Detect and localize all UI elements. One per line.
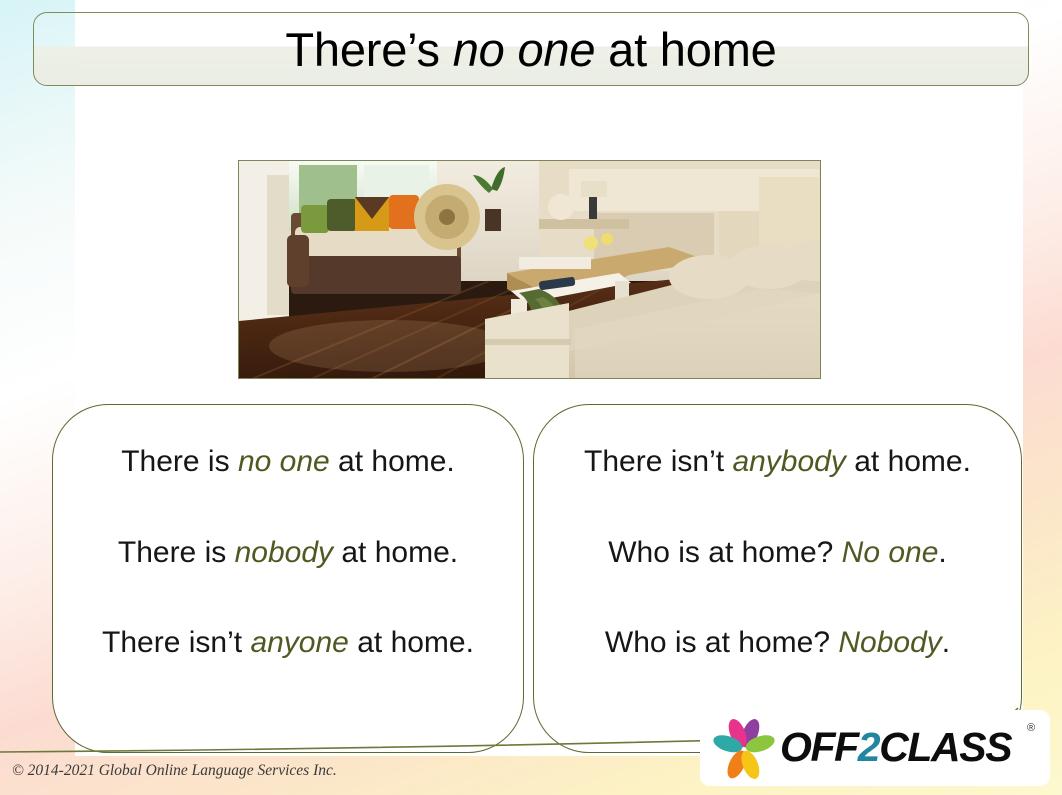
sentence-after: at home. xyxy=(330,445,455,478)
sentence-box-right: There isn’t anybody at home. Who is at h… xyxy=(533,404,1022,753)
sentence-after: at home. xyxy=(349,626,474,659)
sentence-after: . xyxy=(938,536,946,569)
sentence-highlight: anybody xyxy=(732,445,845,478)
sentence-line: Who is at home? No one. xyxy=(534,536,1021,571)
title-prefix: There’s xyxy=(285,23,452,76)
off2class-wordmark: OFF2CLASS xyxy=(780,724,1011,771)
sentence-line: There isn’t anybody at home. xyxy=(534,445,1021,480)
sentence-line: There is no one at home. xyxy=(53,445,523,480)
sentence-before: There is xyxy=(118,536,235,569)
slide: There’s no one at home xyxy=(0,0,1062,795)
sentence-before: Who is at home? xyxy=(608,536,841,569)
page-title: There’s no one at home xyxy=(285,26,776,73)
living-room-photo xyxy=(238,160,821,379)
sentence-box-left: There is no one at home. There is nobody… xyxy=(52,404,524,753)
sentence-line: There is nobody at home. xyxy=(53,536,523,571)
sentence-after: at home. xyxy=(333,536,458,569)
sentence-before: There is xyxy=(121,445,238,478)
title-italic-phrase: no one xyxy=(453,23,596,76)
sentence-highlight: nobody xyxy=(235,536,333,569)
off2class-logo: OFF2CLASS ® xyxy=(700,710,1052,786)
slide-title-bar: There’s no one at home xyxy=(33,12,1029,86)
sentence-highlight: anyone xyxy=(250,626,348,659)
sentence-after: at home. xyxy=(846,445,971,478)
sentence-highlight: Nobody xyxy=(838,626,941,659)
sentence-line: There isn’t anyone at home. xyxy=(53,626,523,661)
living-room-illustration xyxy=(239,161,821,379)
sentence-line: Who is at home? Nobody. xyxy=(534,626,1021,661)
copyright-text: © 2014-2021 Global Online Language Servi… xyxy=(12,762,337,780)
off2class-flower-icon xyxy=(708,716,780,782)
logo-word-two: 2 xyxy=(858,724,879,770)
logo-word-after: CLASS xyxy=(879,724,1011,770)
sentence-highlight: no one xyxy=(238,445,330,478)
sentence-before: There isn’t xyxy=(102,626,250,659)
sentence-before: There isn’t xyxy=(584,445,732,478)
logo-word-before: OFF xyxy=(780,724,858,770)
title-suffix: at home xyxy=(595,23,776,76)
sentence-after: . xyxy=(942,626,950,659)
sentence-highlight: No one xyxy=(842,536,939,569)
sentence-before: Who is at home? xyxy=(605,626,838,659)
registered-trademark-icon: ® xyxy=(1027,722,1035,734)
